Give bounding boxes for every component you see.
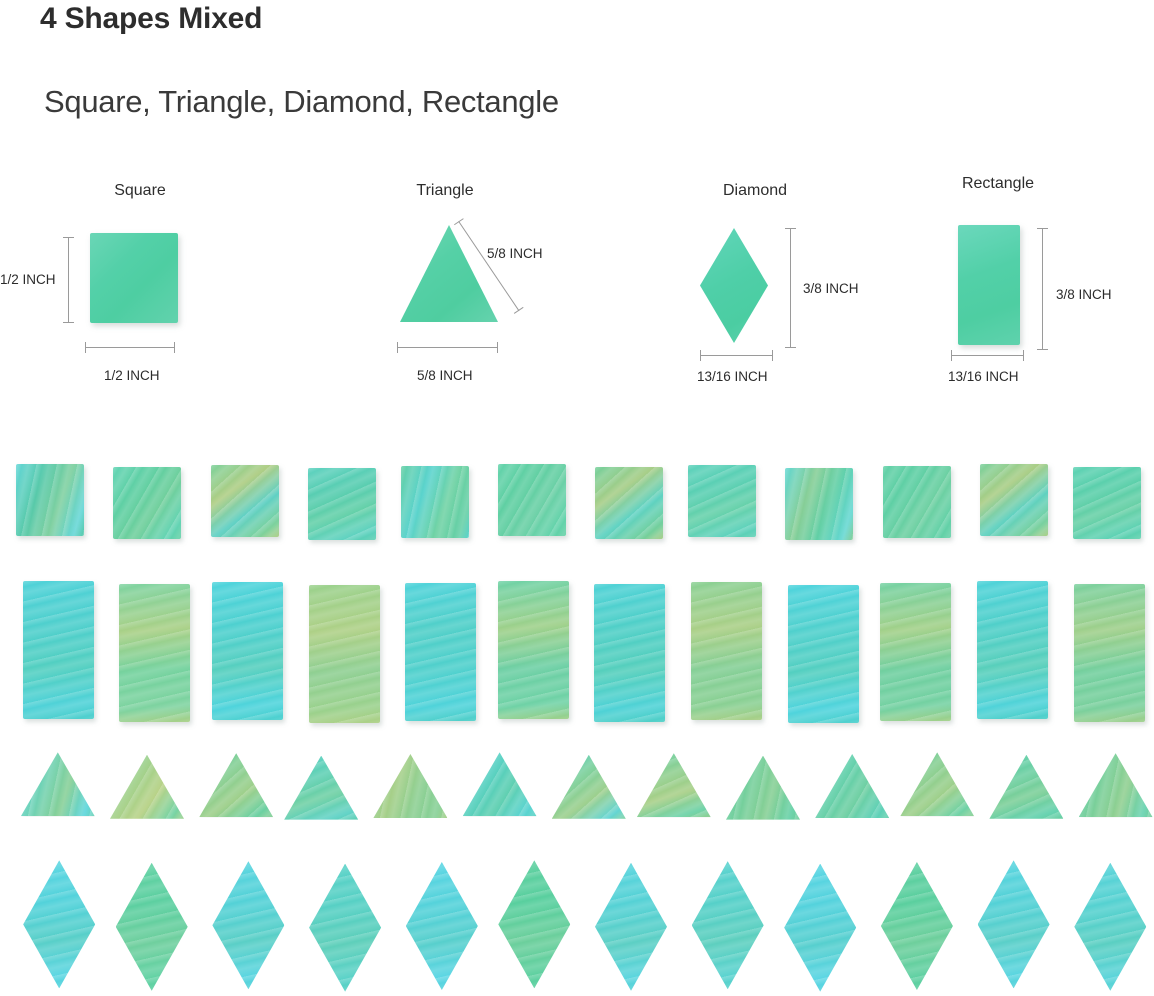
tile-streak-overlay: [883, 466, 951, 538]
dimension-line-square-width: [85, 347, 175, 348]
spec-label-diamond: Diamond: [675, 182, 835, 200]
tile-streak-overlay: [463, 752, 537, 816]
tile-streak-overlay: [284, 756, 358, 820]
tile-streak-overlay: [405, 583, 476, 721]
tile-streak-overlay: [498, 581, 569, 719]
tile-streak-overlay: [692, 861, 764, 989]
dimension-diamond-height: 3/8 INCH: [803, 281, 859, 296]
tile-streak-overlay: [110, 755, 184, 819]
spec-label-rectangle: Rectangle: [918, 175, 1078, 193]
tile-streak-overlay: [595, 467, 663, 539]
dimension-line-rectangle-height: [1042, 228, 1043, 350]
tile-streak-overlay: [23, 581, 94, 719]
tile-streak-overlay: [116, 863, 188, 991]
dimension-square-height: 1/2 INCH: [0, 272, 56, 287]
tile-streak-overlay: [1079, 753, 1153, 817]
tile-streak-overlay: [199, 753, 273, 817]
tile-streak-overlay: [977, 581, 1048, 719]
tile-streak-overlay: [309, 585, 380, 723]
tile-streak-overlay: [1074, 584, 1145, 722]
spec-shape-square: [90, 233, 178, 323]
dimension-triangle-side: 5/8 INCH: [487, 246, 543, 261]
tile-streak-overlay: [594, 584, 665, 722]
tile-streak-overlay: [1073, 467, 1141, 539]
tile-streak-overlay: [989, 755, 1063, 819]
tile-streak-overlay: [498, 464, 566, 536]
dimension-line-diamond-height: [790, 228, 791, 348]
dimension-rectangle-width: 13/16 INCH: [948, 369, 1019, 384]
dimension-line-square-height: [68, 237, 69, 323]
tile-streak-overlay: [212, 861, 284, 989]
tile-streak-overlay: [406, 862, 478, 990]
tile-streak-overlay: [552, 755, 626, 819]
dimension-line-rectangle-width: [951, 355, 1024, 356]
tile-streak-overlay: [21, 752, 95, 816]
tile-streak-overlay: [1074, 863, 1146, 991]
spec-shape-diamond: [700, 228, 768, 343]
tile-streak-overlay: [815, 754, 889, 818]
tile-streak-overlay: [788, 585, 859, 723]
tile-streak-overlay: [23, 860, 95, 988]
tile-streak-overlay: [401, 466, 469, 538]
tile-streak-overlay: [498, 860, 570, 988]
tile-streak-overlay: [784, 864, 856, 992]
dimension-triangle-width: 5/8 INCH: [417, 368, 473, 383]
tile-streak-overlay: [113, 467, 181, 539]
tile-streak-overlay: [637, 753, 711, 817]
tile-streak-overlay: [785, 468, 853, 540]
tile-streak-overlay: [880, 583, 951, 721]
tile-streak-overlay: [212, 582, 283, 720]
spec-shape-triangle: [400, 225, 498, 322]
tile-streak-overlay: [309, 864, 381, 992]
tile-streak-overlay: [373, 754, 447, 818]
tile-streak-overlay: [881, 862, 953, 990]
dimension-square-width: 1/2 INCH: [104, 368, 160, 383]
dimension-line-diamond-width: [700, 355, 773, 356]
spec-shape-rectangle: [958, 225, 1020, 345]
tile-streak-overlay: [211, 465, 279, 537]
spec-label-triangle: Triangle: [365, 182, 525, 200]
tile-streak-overlay: [900, 752, 974, 816]
tile-streak-overlay: [688, 465, 756, 537]
page-subtitle: Square, Triangle, Diamond, Rectangle: [44, 84, 559, 120]
page-title: 4 Shapes Mixed: [40, 2, 262, 36]
tile-streak-overlay: [595, 863, 667, 991]
dimension-rectangle-height: 3/8 INCH: [1056, 287, 1112, 302]
tile-streak-overlay: [119, 584, 190, 722]
tile-streak-overlay: [978, 860, 1050, 988]
spec-label-square: Square: [60, 182, 220, 200]
dimension-diamond-width: 13/16 INCH: [697, 369, 768, 384]
tile-streak-overlay: [980, 464, 1048, 536]
tile-streak-overlay: [726, 756, 800, 820]
tile-streak-overlay: [691, 582, 762, 720]
product-infographic: 4 Shapes Mixed Square, Triangle, Diamond…: [0, 0, 1154, 996]
dimension-line-triangle-width: [397, 347, 498, 348]
tile-streak-overlay: [308, 468, 376, 540]
tile-streak-overlay: [16, 464, 84, 536]
